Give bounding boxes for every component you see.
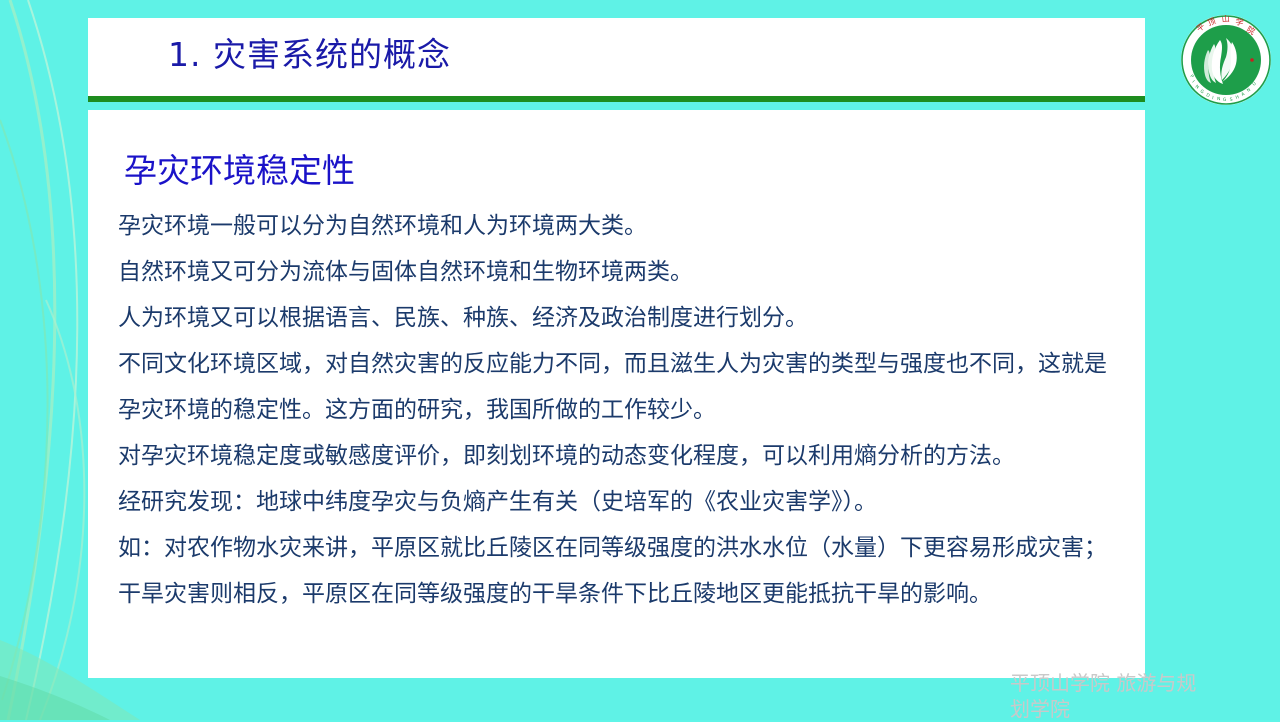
content-card: 孕灾环境稳定性 孕灾环境一般可以分为自然环境和人为环境两大类。 自然环境又可分为… xyxy=(88,110,1145,678)
body-line: 自然环境又可分为流体与固体自然环境和生物环境两类。 xyxy=(118,249,1128,295)
body-line: 对孕灾环境稳定度或敏感度评价，即刻划环境的动态变化程度，可以利用熵分析的方法。 xyxy=(118,433,1128,479)
page-title: 1. 灾害系统的概念 xyxy=(168,28,451,76)
title-band: 1. 灾害系统的概念 xyxy=(88,18,1145,96)
slide-canvas: 1. 灾害系统的概念 平 顶 山 学 院 P I N G D I xyxy=(0,0,1280,720)
svg-text:N: N xyxy=(1217,96,1221,102)
body-line: 人为环境又可以根据语言、民族、种族、经济及政治制度进行划分。 xyxy=(118,295,1128,341)
university-logo: 平 顶 山 学 院 P I N G D I N G S H A N U xyxy=(1180,14,1272,106)
body-line: 孕灾环境一般可以分为自然环境和人为环境两大类。 xyxy=(118,203,1128,249)
logo-icon: 平 顶 山 学 院 P I N G D I N G S H A N U xyxy=(1180,14,1272,106)
svg-text:山: 山 xyxy=(1221,14,1230,24)
title-underline-rule xyxy=(88,96,1145,102)
body-text-block: 孕灾环境一般可以分为自然环境和人为环境两大类。 自然环境又可分为流体与固体自然环… xyxy=(118,203,1128,617)
section-heading: 孕灾环境稳定性 xyxy=(124,144,355,192)
body-line: 经研究发现：地球中纬度孕灾与负熵产生有关（史培军的《农业灾害学》）。 xyxy=(118,479,1128,525)
footer-watermark: 平顶山学院 旅游与规划学院 xyxy=(1010,670,1210,722)
body-line: 如：对农作物水灾来讲，平原区就比丘陵区在同等级强度的洪水水位（水量）下更容易形成… xyxy=(118,525,1128,617)
body-line: 不同文化环境区域，对自然灾害的反应能力不同，而且滋生人为灾害的类型与强度也不同，… xyxy=(118,341,1128,433)
